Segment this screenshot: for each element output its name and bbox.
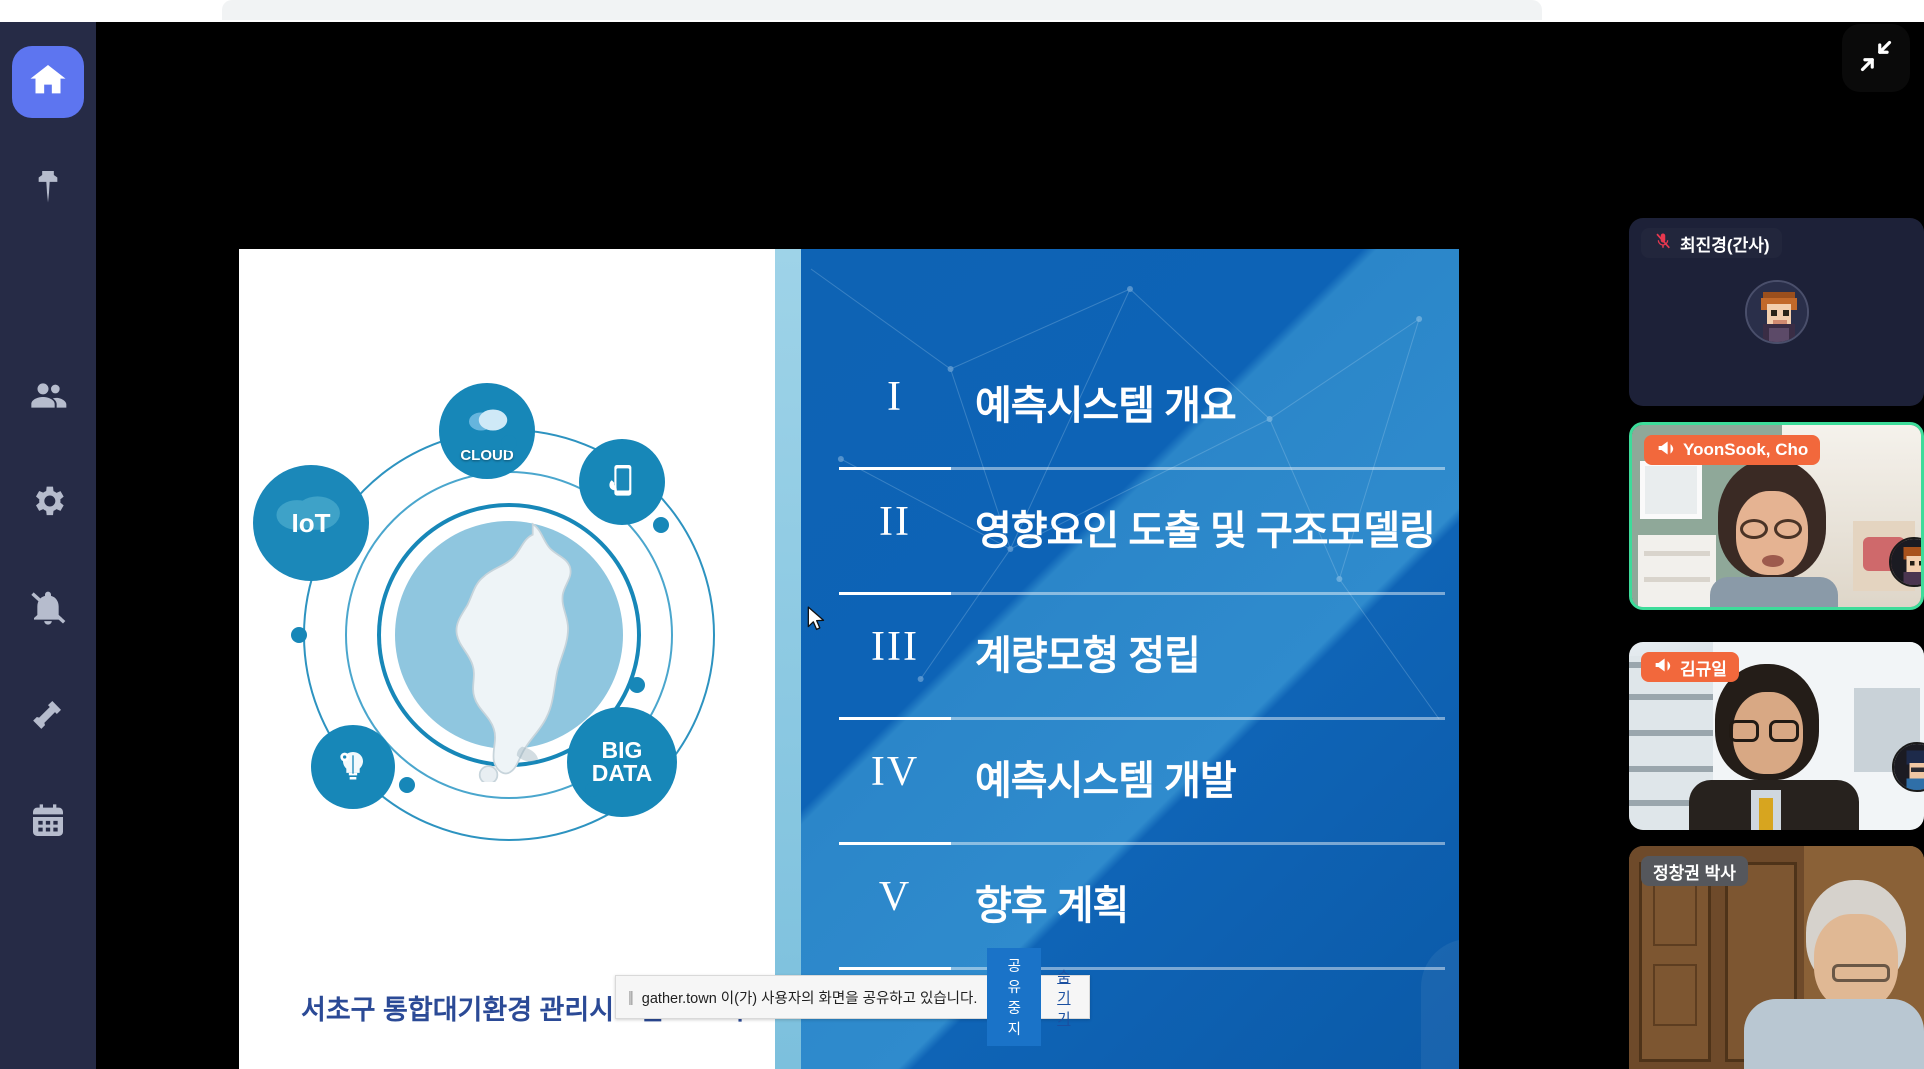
sidebar-item-settings[interactable] [12,467,84,539]
participant-tile[interactable]: YoonSook, Cho [1629,422,1924,610]
participant-name-badge: 김규일 [1641,652,1739,682]
bubble-label-cloud: CLOUD [439,448,535,463]
hide-notification-link[interactable]: 숨기기 [1051,966,1077,1029]
agenda-numeral: V [839,873,951,921]
participant-name-badge: 정창권 박사 [1641,856,1748,886]
slide-left-panel: CLOUD IoT [239,249,775,1069]
calendar-icon [28,801,68,846]
browser-chrome-strip [0,0,1924,22]
sidebar-item-notifications[interactable] [12,574,84,646]
participant-tile[interactable]: 정창권 박사 [1629,846,1924,1069]
participant-rail: 최진경(간사) [1629,22,1924,1069]
home-icon [28,60,68,105]
stop-sharing-button[interactable]: 공유 중지 [987,948,1041,1046]
participant-name: YoonSook, Cho [1683,440,1808,460]
bubble-cloud: CLOUD [439,383,535,479]
agenda-underline [839,967,1445,970]
bubble-label-iot: IoT [292,510,331,537]
pin-icon [28,166,68,211]
share-message: gather.town 이(가) 사용자의 화면을 공유하고 있습니다. [642,987,978,1008]
bell-off-icon [28,588,68,633]
bubble-ai [311,725,395,809]
sidebar-item-calendar[interactable] [12,787,84,859]
agenda-row: I 예측시스템 개요 [839,367,1445,492]
slide-infographic: CLOUD IoT [249,377,769,917]
agenda-row: III 계량모형 정립 [839,617,1445,742]
exit-fullscreen-button[interactable] [1842,24,1910,92]
sidebar-item-build[interactable] [12,680,84,752]
bubble-mobile [579,439,665,525]
app-sidebar [0,22,96,1069]
agenda-row: II 영향요인 도출 및 구조모델링 [839,492,1445,617]
agenda-text: 예측시스템 개요 [975,373,1236,431]
people-icon [28,376,68,421]
sidebar-item-home[interactable] [12,46,84,118]
agenda-row: V 향후 계획 [839,867,1445,992]
participant-name: 최진경(간사) [1680,231,1770,256]
participant-name: 김규일 [1680,655,1727,680]
browser-tab[interactable] [222,0,1542,20]
hammer-icon [28,694,68,739]
participant-name: 정창권 박사 [1653,859,1736,884]
app-root: CLOUD IoT [0,0,1924,1069]
participant-name-badge: YoonSook, Cho [1644,435,1820,465]
bubble-bigdata: BIG DATA [567,707,677,817]
agenda-numeral: I [839,373,951,421]
agenda-text: 예측시스템 개발 [975,748,1236,806]
exit-fullscreen-icon [1858,38,1894,79]
screen-share-notification: || gather.town 이(가) 사용자의 화면을 공유하고 있습니다. … [615,975,1090,1019]
participant-name-badge: 최진경(간사) [1641,228,1782,258]
gear-icon [28,481,68,526]
agenda-underline [839,592,1445,595]
agenda-text: 영향요인 도출 및 구조모델링 [975,498,1435,556]
slide-divider [775,249,801,1069]
agenda-underline [839,717,1445,720]
drag-handle-icon[interactable]: || [628,989,632,1006]
sidebar-item-people[interactable] [12,362,84,434]
agenda-text: 계량모형 정립 [975,623,1200,681]
mouse-cursor [806,606,828,637]
shared-slide: CLOUD IoT [239,249,1459,1069]
agenda-numeral: IV [839,748,951,796]
bubble-label-bigdata: BIG DATA [592,739,652,786]
agenda-numeral: III [839,623,951,671]
bubble-iot: IoT [253,465,369,581]
agenda-list: I 예측시스템 개요 II 영향요인 도출 및 구조모델링 III 계량모형 정… [839,367,1445,992]
agenda-underline [839,467,1445,470]
mic-off-icon [1653,232,1673,255]
agenda-row: IV 예측시스템 개발 [839,742,1445,867]
agenda-underline [839,842,1445,845]
agenda-text: 향후 계획 [975,873,1128,931]
slide-right-panel: I 예측시스템 개요 II 영향요인 도출 및 구조모델링 III 계량모형 정… [801,249,1459,1069]
participant-tile[interactable]: 최진경(간사) [1629,218,1924,406]
megaphone-icon [1656,439,1676,462]
megaphone-icon [1653,656,1673,679]
sidebar-item-pin[interactable] [12,152,84,224]
avatar [1745,280,1809,344]
participant-tile[interactable]: 김규일 [1629,642,1924,830]
agenda-numeral: II [839,498,951,546]
